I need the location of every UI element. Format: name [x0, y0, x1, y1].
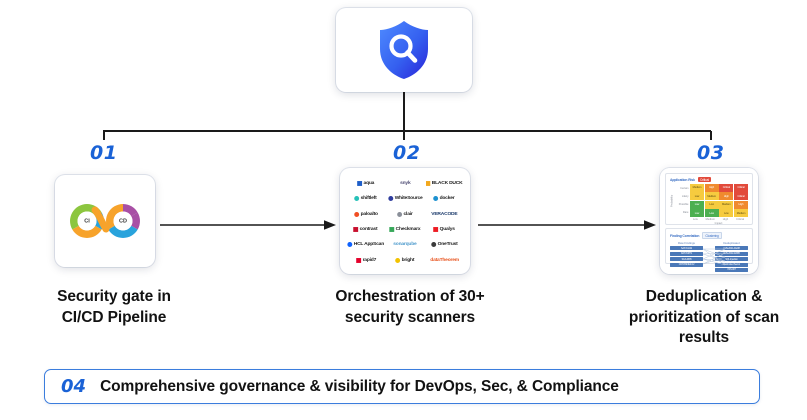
- vendor-logo-mark: [397, 211, 402, 216]
- connector-drop-2: [403, 131, 405, 140]
- risk-matrix-x-tick: Critical: [736, 218, 744, 221]
- vendor-logo-name: OneTrust: [438, 242, 458, 248]
- vendor-logo: rapid7: [347, 253, 384, 267]
- correlation-right-header: Deduplicated: [715, 241, 748, 245]
- risk-matrix-cell: Medium: [734, 209, 748, 217]
- correlation-bar-left: SAST-1042: [670, 246, 703, 250]
- vendor-logo-name: Checkmarx: [396, 226, 421, 232]
- vendor-logo: snyk: [386, 176, 423, 190]
- risk-matrix-cell: Medium: [719, 201, 733, 209]
- vendor-logo: shiftleft: [347, 191, 384, 205]
- banner-text: Comprehensive governance & visibility fo…: [100, 378, 619, 396]
- vendor-logo-name: shiftleft: [361, 196, 377, 202]
- caption-line: prioritization of scan: [598, 308, 807, 329]
- vendor-logo-mark: [395, 257, 400, 262]
- vendor-logo-mark: [355, 196, 360, 201]
- risk-matrix-y-axis-label: Probability: [670, 184, 674, 217]
- risk-matrix-cell: Critical: [734, 184, 748, 192]
- correlation-left-column: Raw Findings SAST-1042DAST-0871SCA-0335C…: [670, 241, 703, 267]
- vendor-logo: sonarqube: [386, 237, 423, 251]
- step-caption-3: Deduplication &prioritization of scanres…: [598, 287, 807, 349]
- vendor-logo-mark: [434, 227, 439, 232]
- risk-matrix-title: Application Risk: [670, 178, 695, 182]
- vendor-logo-name: WhiteSource: [394, 196, 422, 202]
- vendor-logo: HCL AppScan: [347, 237, 384, 251]
- risk-matrix-cell: Low: [705, 209, 719, 217]
- vendor-logo-mark: [426, 181, 431, 186]
- caption-line: results: [598, 328, 807, 349]
- vendor-logo-grid: aquasnykBLACK DUCKshiftleftWhiteSourcedo…: [340, 168, 470, 274]
- vendor-logo-mark: [354, 211, 359, 216]
- correlation-bar-left: DAST-0871: [670, 252, 703, 256]
- step-number-01: 01: [90, 142, 117, 164]
- caption-line: Deduplication &: [598, 287, 807, 308]
- svg-text:CI: CI: [84, 219, 90, 225]
- connector-drop-3: [710, 131, 712, 140]
- risk-matrix-cell: Low: [719, 209, 733, 217]
- risk-matrix-cell: Critical: [734, 192, 748, 200]
- risk-matrix-y-tick: Rare: [676, 211, 689, 214]
- connector-drop-1: [103, 131, 105, 140]
- step-caption-1: Security gate inCI/CD Pipeline: [14, 287, 214, 328]
- vendor-logo-name: snyk: [400, 180, 410, 186]
- banner-step-number: 04: [61, 376, 86, 397]
- risk-matrix-y-tick: Possible: [676, 203, 689, 206]
- vendor-logo-name: bright: [402, 257, 415, 263]
- risk-matrix-x-tick: Low: [693, 218, 698, 221]
- vendor-logo-name: Qualys: [440, 226, 455, 232]
- vendor-logo-name: clair: [404, 211, 413, 217]
- vendor-logo-mark: [357, 181, 362, 186]
- correlation-bar-left: SCA-0335: [670, 257, 703, 261]
- risk-matrix-cell: Critical: [719, 184, 733, 192]
- vendor-logo: paloalto: [347, 207, 384, 221]
- caption-line: CI/CD Pipeline: [14, 308, 214, 329]
- vendor-logo: contrast: [347, 222, 384, 236]
- vendor-logo-name: VERACODE: [431, 211, 457, 217]
- vendor-logo-mark: [389, 227, 394, 232]
- step-number-03: 03: [697, 142, 724, 164]
- risk-matrix-cell: Low: [705, 201, 719, 209]
- step-card-ci-cd: CI CD: [55, 175, 155, 267]
- vendor-logo-name: contrast: [360, 226, 378, 232]
- vendor-logo-name: docker: [440, 196, 455, 202]
- vendor-logo: bright: [386, 253, 423, 267]
- caption-line: security scanners: [296, 308, 524, 329]
- shield-search-icon: [376, 19, 432, 81]
- vendor-logo: VERACODE: [426, 207, 463, 221]
- caption-line: Security gate in: [14, 287, 214, 308]
- vendor-logo-mark: [434, 196, 439, 201]
- correlation-bar-right: XSS-007: [715, 268, 748, 272]
- vendor-logo-name: BLACK DUCK: [432, 180, 463, 186]
- risk-matrix-chip: Critical: [698, 177, 711, 182]
- risk-matrix-cell: Medium: [690, 184, 704, 192]
- vendor-logo: WhiteSource: [386, 191, 423, 205]
- vendor-logo-name: sonarqube: [393, 242, 416, 248]
- vendor-logo-name: aqua: [364, 180, 375, 186]
- vendor-logo: BLACK DUCK: [426, 176, 463, 190]
- correlation-link-lines: [703, 247, 725, 267]
- step-caption-2: Orchestration of 30+security scanners: [296, 287, 524, 328]
- caption-line: Orchestration of 30+: [296, 287, 524, 308]
- risk-matrix-x-tick: High: [723, 218, 728, 221]
- correlation-panel: Finding Correlation Clustering Raw Findi…: [665, 228, 753, 264]
- devops-infinity-icon: CI CD: [55, 175, 155, 267]
- risk-matrix-grid: MediumHighCriticalCriticalLowMediumHighC…: [690, 184, 748, 217]
- vendor-logo-mark: [388, 196, 393, 201]
- vendor-logo-mark: [431, 242, 436, 247]
- vendor-logo-mark: [347, 242, 352, 247]
- svg-text:CD: CD: [119, 219, 127, 225]
- risk-matrix-x-axis-label: Impact: [689, 222, 748, 225]
- correlation-title: Finding Correlation: [670, 234, 699, 238]
- vendor-logo-mark: [354, 227, 359, 232]
- diagram-canvas: 01 02 03 CI: [0, 0, 807, 420]
- risk-matrix-y-ticks: CertainLikelyPossibleRare: [676, 184, 689, 217]
- risk-matrix-body: Probability CertainLikelyPossibleRare Me…: [670, 184, 748, 217]
- arrow-step1-to-step2: [160, 218, 336, 232]
- step-card-scanner-logos: aquasnykBLACK DUCKshiftleftWhiteSourcedo…: [340, 168, 470, 274]
- risk-matrix-panel: Application Risk Critical Probability Ce…: [665, 173, 753, 225]
- risk-matrix-y-tick: Likely: [676, 195, 689, 198]
- correlation-chip: Clustering: [702, 232, 721, 239]
- correlation-left-bars: SAST-1042DAST-0871SCA-0335CONTAINER-12: [670, 246, 703, 266]
- vendor-logo: Qualys: [426, 222, 463, 236]
- risk-matrix-x-tick: Medium: [706, 218, 715, 221]
- step-card-dashboard: Application Risk Critical Probability Ce…: [660, 168, 758, 274]
- vendor-logo: dataTheorem: [426, 253, 463, 267]
- risk-matrix-cell: Medium: [705, 192, 719, 200]
- connector-rail: [103, 130, 711, 132]
- hero-shield-card: [336, 8, 472, 92]
- vendor-logo-name: rapid7: [362, 257, 376, 263]
- vendor-logo: Checkmarx: [386, 222, 423, 236]
- correlation-flow: Raw Findings SAST-1042DAST-0871SCA-0335C…: [670, 241, 748, 267]
- risk-matrix-y-tick: Certain: [676, 187, 689, 190]
- vendor-logo: aqua: [347, 176, 384, 190]
- correlation-bar-left: CONTAINER-12: [670, 263, 703, 267]
- risk-matrix-cell: Low: [690, 201, 704, 209]
- step-number-02: 02: [393, 142, 420, 164]
- dashboard-mock: Application Risk Critical Probability Ce…: [660, 168, 758, 274]
- risk-matrix-cell: High: [719, 192, 733, 200]
- risk-matrix-cell: Low: [690, 209, 704, 217]
- connector-trunk: [403, 92, 405, 131]
- vendor-logo: clair: [386, 207, 423, 221]
- governance-banner[interactable]: 04 Comprehensive governance & visibility…: [44, 369, 760, 404]
- risk-matrix-cell: High: [705, 184, 719, 192]
- vendor-logo: docker: [426, 191, 463, 205]
- risk-matrix-cell: High: [734, 201, 748, 209]
- risk-matrix-header: Application Risk Critical: [670, 177, 748, 182]
- vendor-logo-name: HCL AppScan: [354, 242, 384, 248]
- risk-matrix-cell: Low: [690, 192, 704, 200]
- correlation-left-header: Raw Findings: [670, 241, 703, 245]
- vendor-logo-name: dataTheorem: [430, 257, 459, 263]
- arrow-step2-to-step3: [478, 218, 656, 232]
- vendor-logo: OneTrust: [426, 237, 463, 251]
- vendor-logo-mark: [356, 257, 361, 262]
- correlation-header: Finding Correlation Clustering: [670, 232, 748, 239]
- vendor-logo-name: paloalto: [360, 211, 377, 217]
